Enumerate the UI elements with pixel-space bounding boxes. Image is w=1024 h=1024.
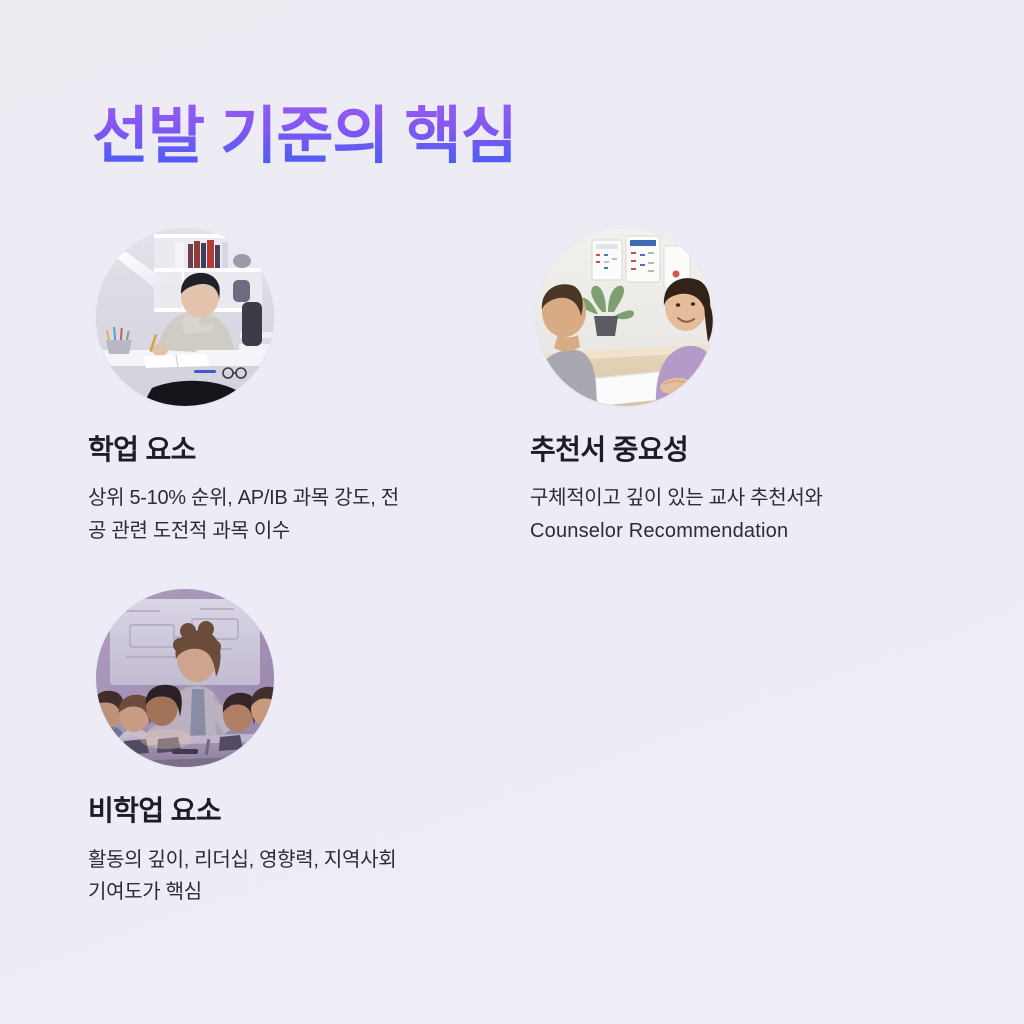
card-desc-line: 활동의 깊이, 리더십, 영향력, 지역사회	[88, 844, 488, 876]
card-nonacademic: 비학업 요소 활동의 깊이, 리더십, 영향력, 지역사회 기여도가 핵심	[88, 589, 498, 908]
card-title: 비학업 요소	[88, 793, 498, 829]
card-description: 구체적이고 깊이 있는 교사 추천서와 Counselor Recommenda…	[530, 482, 930, 547]
card-title: 추천서 중요성	[530, 432, 940, 468]
card-grid: 학업 요소 상위 5-10% 순위, AP/IB 과목 강도, 전 공 관련 도…	[88, 228, 940, 908]
card-desc-line: 기여도가 핵심	[88, 876, 488, 908]
card-academic: 학업 요소 상위 5-10% 순위, AP/IB 과목 강도, 전 공 관련 도…	[88, 228, 498, 547]
card-desc-line: 상위 5-10% 순위, AP/IB 과목 강도, 전	[88, 482, 488, 514]
classroom-group-activity-photo	[96, 589, 274, 767]
student-studying-at-desk-photo	[96, 228, 274, 406]
card-desc-line: Counselor Recommendation	[530, 515, 930, 547]
card-title: 학업 요소	[88, 432, 498, 468]
counselor-meeting-photo	[536, 228, 714, 406]
slide-canvas: 선발 기준의 핵심	[0, 0, 1024, 1024]
card-recommendation: 추천서 중요성 구체적이고 깊이 있는 교사 추천서와 Counselor Re…	[530, 228, 940, 547]
card-description: 상위 5-10% 순위, AP/IB 과목 강도, 전 공 관련 도전적 과목 …	[88, 482, 488, 547]
card-description: 활동의 깊이, 리더십, 영향력, 지역사회 기여도가 핵심	[88, 844, 488, 909]
card-desc-line: 구체적이고 깊이 있는 교사 추천서와	[530, 482, 930, 514]
card-desc-line: 공 관련 도전적 과목 이수	[88, 515, 488, 547]
page-title: 선발 기준의 핵심	[92, 98, 517, 176]
